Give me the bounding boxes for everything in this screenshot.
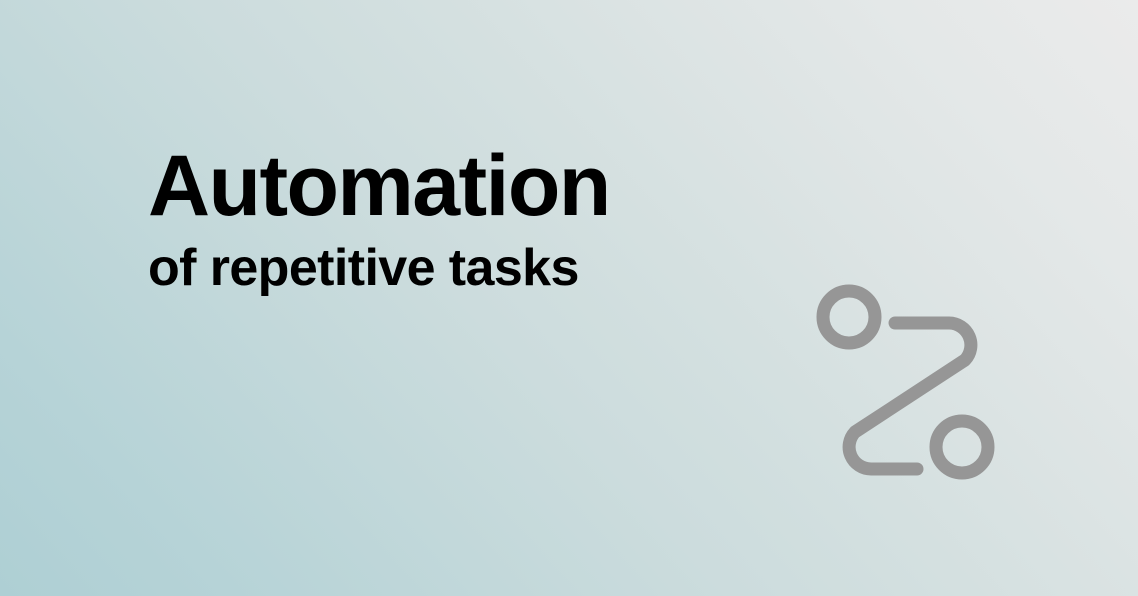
start-node-circle: [823, 291, 875, 343]
workflow-route-icon: [805, 272, 1010, 494]
workflow-route-icon-svg: [805, 272, 1010, 494]
automation-banner: Automation of repetitive tasks: [0, 0, 1138, 596]
connector-path: [849, 323, 971, 469]
page-title: Automation: [148, 140, 788, 232]
page-subtitle: of repetitive tasks: [148, 232, 788, 298]
banner-text-block: Automation of repetitive tasks: [148, 140, 788, 298]
end-node-circle: [936, 421, 988, 473]
